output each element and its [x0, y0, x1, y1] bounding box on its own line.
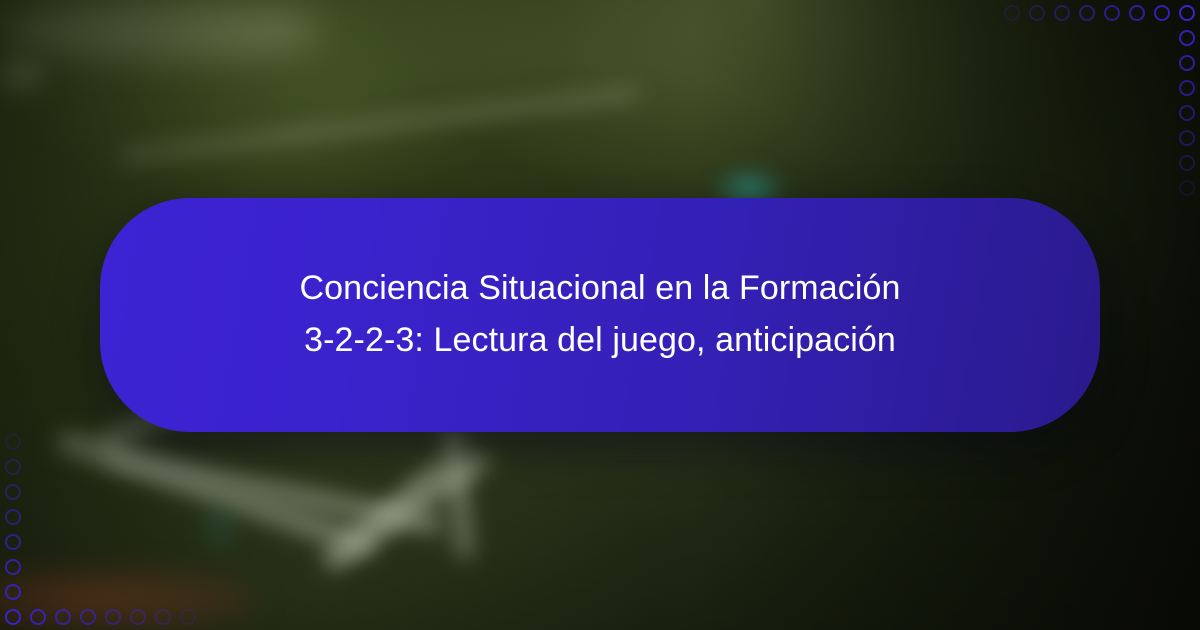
dot-top-row: [1079, 5, 1095, 21]
dot-bottom-row: [80, 609, 96, 625]
dot-right-column: [1179, 30, 1195, 46]
dot-top-row: [1029, 5, 1045, 21]
dot-right-column: [1179, 105, 1195, 121]
dot-right-column: [1179, 155, 1195, 171]
dot-bottom-row: [55, 609, 71, 625]
dot-left-column: [5, 584, 21, 600]
page-title-line-2: 3-2-2-3: Lectura del juego, anticipación: [304, 321, 896, 359]
dot-left-column: [5, 434, 21, 450]
dot-top-row: [1179, 5, 1195, 21]
dot-bottom-row: [180, 609, 196, 625]
dot-right-column: [1179, 180, 1195, 196]
dot-left-column: [5, 509, 21, 525]
dot-left-column: [5, 484, 21, 500]
page-title: Conciencia Situacional en la Formación3-…: [250, 263, 950, 366]
dot-top-row: [1129, 5, 1145, 21]
headline-card: Conciencia Situacional en la Formación3-…: [100, 198, 1100, 432]
dot-bottom-row: [155, 609, 171, 625]
dot-bottom-row: [30, 609, 46, 625]
dot-top-row: [1054, 5, 1070, 21]
dot-left-column: [5, 559, 21, 575]
dot-bottom-row: [5, 609, 21, 625]
page-title-line-1: Conciencia Situacional en la Formación: [299, 269, 900, 307]
dot-right-column: [1179, 130, 1195, 146]
social-card-canvas: Conciencia Situacional en la Formación3-…: [0, 0, 1200, 630]
dot-right-column: [1179, 80, 1195, 96]
dot-top-row: [1104, 5, 1120, 21]
dot-top-row: [1004, 5, 1020, 21]
dot-top-row: [1154, 5, 1170, 21]
dot-bottom-row: [105, 609, 121, 625]
dot-right-column: [1179, 55, 1195, 71]
dot-left-column: [5, 534, 21, 550]
dot-bottom-row: [130, 609, 146, 625]
dot-left-column: [5, 459, 21, 475]
